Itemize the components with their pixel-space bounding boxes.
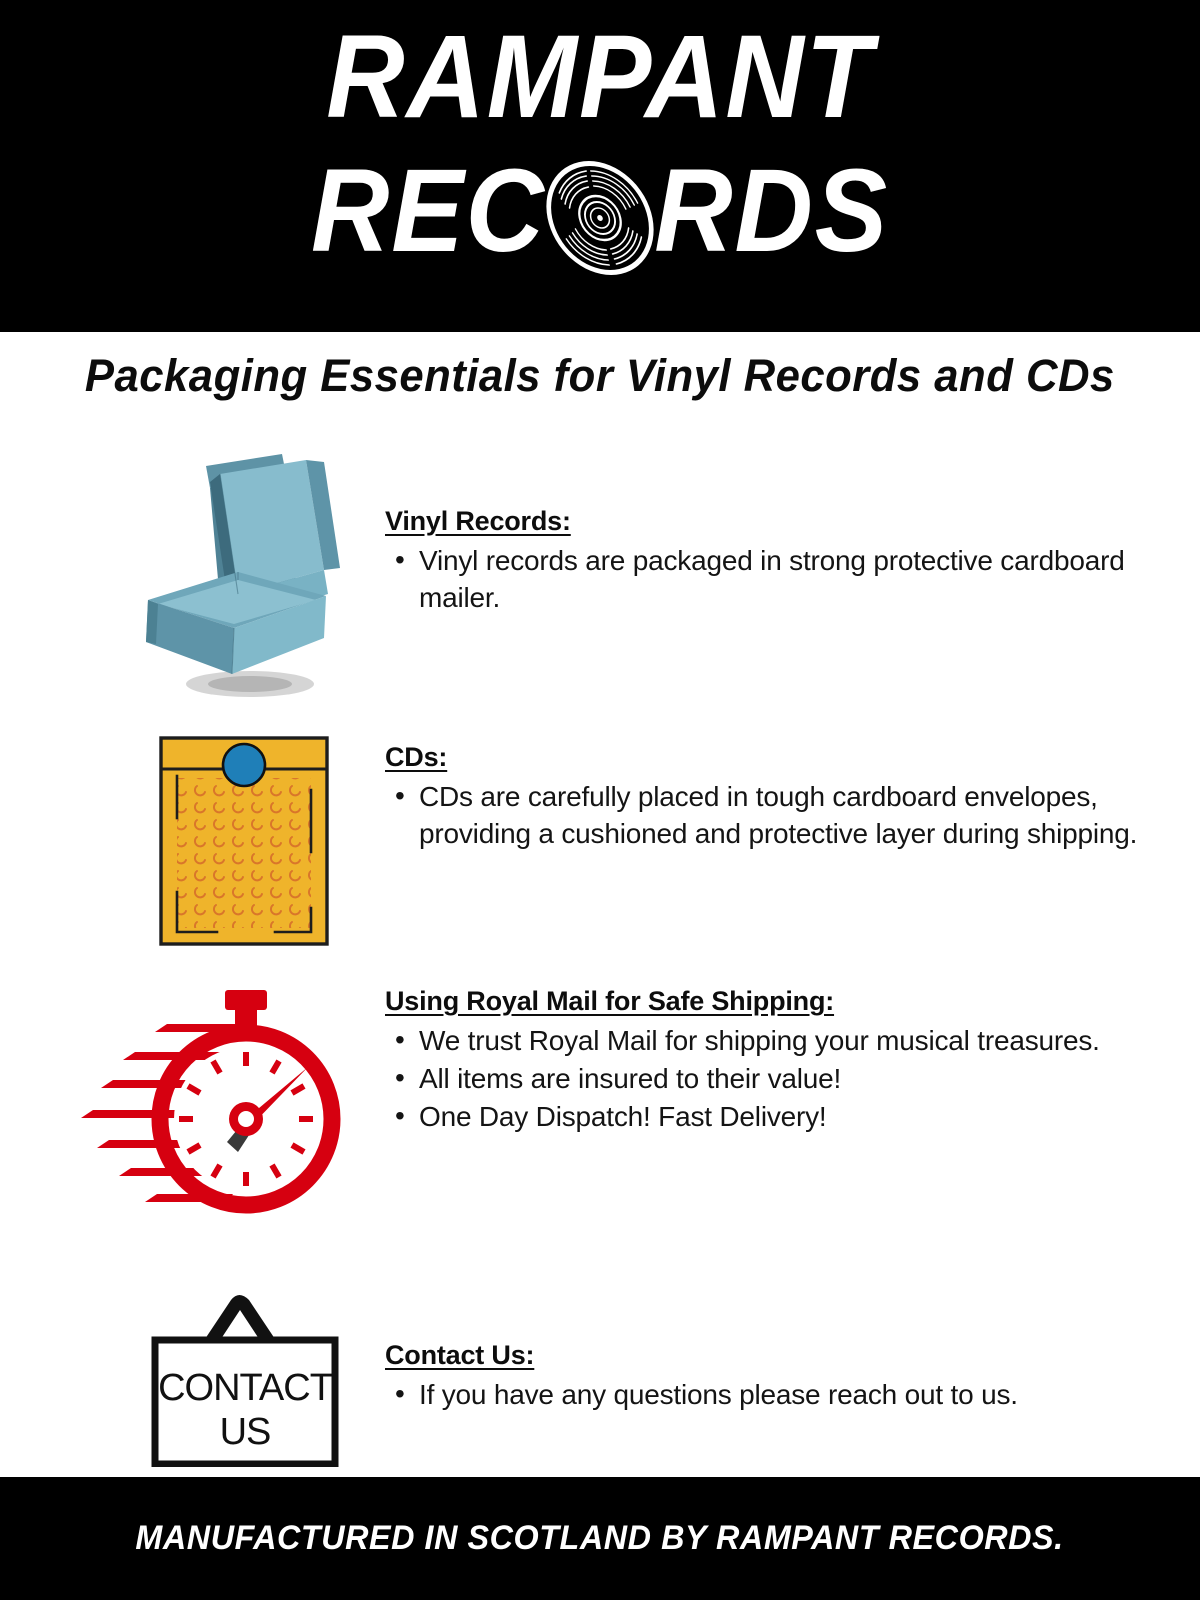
subtitle-band: Packaging Essentials for Vinyl Records a… bbox=[0, 332, 1200, 420]
logo-line-2: REC bbox=[48, 152, 1152, 277]
heading-cds: CDs: bbox=[385, 742, 1170, 773]
logo-line-2-prefix: REC bbox=[311, 145, 546, 277]
icon-column-vinyl bbox=[0, 452, 385, 618]
bullet-list-contact: If you have any questions please reach o… bbox=[385, 1377, 1170, 1414]
section-royal-mail: Using Royal Mail for Safe Shipping: We t… bbox=[0, 982, 1200, 1137]
padded-envelope-icon bbox=[155, 732, 335, 955]
text-column-vinyl: Vinyl Records: Vinyl records are package… bbox=[385, 452, 1200, 618]
logo-line-1: RAMPANT bbox=[48, 18, 1152, 136]
bullet-list-cds: CDs are carefully placed in tough cardbo… bbox=[385, 779, 1170, 853]
open-cardboard-box-icon bbox=[110, 452, 370, 707]
contact-sign-line-2: US bbox=[220, 1411, 271, 1453]
logo-line-2-suffix: RDS bbox=[654, 145, 889, 277]
contact-sign-line-1: CONTACT bbox=[158, 1367, 333, 1409]
fast-stopwatch-icon bbox=[75, 982, 345, 1232]
heading-vinyl-records: Vinyl Records: bbox=[385, 506, 1170, 537]
list-item: Vinyl records are packaged in strong pro… bbox=[385, 543, 1170, 617]
page-title: Packaging Essentials for Vinyl Records a… bbox=[85, 350, 1115, 402]
list-item: If you have any questions please reach o… bbox=[385, 1377, 1170, 1414]
text-column-cds: CDs: CDs are carefully placed in tough c… bbox=[385, 732, 1200, 854]
bullet-list-royal-mail: We trust Royal Mail for shipping your mu… bbox=[385, 1023, 1170, 1136]
icon-column-contact: CONTACT US bbox=[0, 1282, 385, 1415]
bullet-list-vinyl: Vinyl records are packaged in strong pro… bbox=[385, 543, 1170, 617]
text-column-contact: Contact Us: If you have any questions pl… bbox=[385, 1282, 1200, 1415]
icon-column-royal-mail bbox=[0, 982, 385, 1137]
hanging-contact-sign-icon: CONTACT US bbox=[145, 1282, 345, 1472]
icon-column-cds bbox=[0, 732, 385, 854]
section-contact-us: CONTACT US Contact Us: If you have any q… bbox=[0, 1282, 1200, 1415]
text-column-royal-mail: Using Royal Mail for Safe Shipping: We t… bbox=[385, 982, 1200, 1137]
list-item: We trust Royal Mail for shipping your mu… bbox=[385, 1023, 1170, 1060]
heading-royal-mail: Using Royal Mail for Safe Shipping: bbox=[385, 986, 1170, 1017]
list-item: All items are insured to their value! bbox=[385, 1061, 1170, 1098]
footer-bar: MANUFACTURED IN SCOTLAND BY RAMPANT RECO… bbox=[0, 1477, 1200, 1600]
section-cds: CDs: CDs are carefully placed in tough c… bbox=[0, 732, 1200, 854]
list-item: CDs are carefully placed in tough cardbo… bbox=[385, 779, 1170, 853]
brand-header: RAMPANT REC bbox=[0, 0, 1200, 332]
list-item: One Day Dispatch! Fast Delivery! bbox=[385, 1099, 1170, 1136]
heading-contact-us: Contact Us: bbox=[385, 1340, 1170, 1371]
vinyl-record-icon bbox=[534, 159, 666, 277]
footer-text: MANUFACTURED IN SCOTLAND BY RAMPANT RECO… bbox=[136, 1519, 1064, 1558]
content-area: Vinyl Records: Vinyl records are package… bbox=[0, 420, 1200, 1475]
section-vinyl-records: Vinyl Records: Vinyl records are package… bbox=[0, 452, 1200, 618]
